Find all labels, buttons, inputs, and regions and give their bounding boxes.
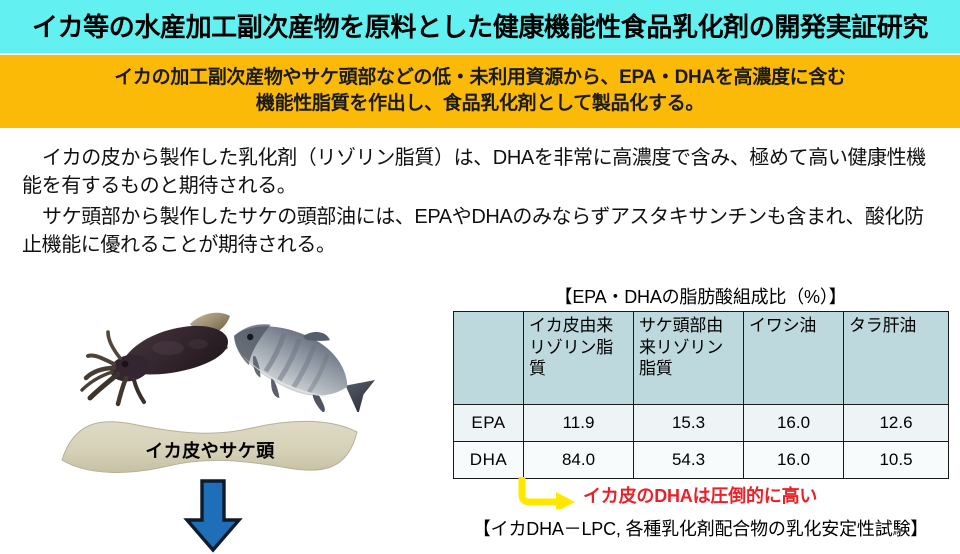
column-header-cod-liver-oil: タラ肝油 [844,311,949,404]
cell-dha-sardine: 16.0 [744,441,844,478]
salmon-photo [215,312,380,412]
annotation-note: イカ皮のDHAは圧倒的に高い [583,482,817,508]
cell-epa-cod: 12.6 [844,404,949,441]
slide-canvas: イカ等の水産加工副次産物を原料とした健康機能性食品乳化剤の開発実証研究 イカの加… [0,0,960,554]
table-row: EPA 11.9 15.3 16.0 12.6 [454,404,949,441]
material-banner [60,416,360,478]
title-band: イカ等の水産加工副次産物を原料とした健康機能性食品乳化剤の開発実証研究 [0,0,960,53]
fatty-acid-composition-table: イカ皮由来リゾリン脂質 サケ頭部由来リゾリン脂質 イワシ油 タラ肝油 EPA 1… [453,311,949,479]
figure-group: イカ皮やサケ頭 [60,296,440,554]
elbow-arrow-icon [515,477,579,509]
fatty-acid-table-block: 【EPA・DHAの脂肪酸組成比（%）】 イカ皮由来リゾリン脂質 サケ頭部由来リゾ… [453,288,948,479]
cell-dha-ika: 84.0 [524,441,634,478]
footer-caption: 【イカDHA－LPC, 各種乳化剤配合物の乳化安定性試験】 [453,519,948,540]
body-paragraph-1: イカの皮から製作した乳化剤（リゾリン脂質）は、DHAを非常に高濃度で含み、極めて… [22,144,938,201]
highlight-annotation: イカ皮のDHAは圧倒的に高い [453,477,948,511]
cell-epa-salmon: 15.3 [634,404,744,441]
table-row: DHA 84.0 54.3 16.0 10.5 [454,441,949,478]
column-header-salmon-lysophospholipid: サケ頭部由来リゾリン脂質 [634,311,744,404]
row-header-epa: EPA [454,404,524,441]
cell-epa-sardine: 16.0 [744,404,844,441]
cell-dha-salmon: 54.3 [634,441,744,478]
table-header-row: イカ皮由来リゾリン脂質 サケ頭部由来リゾリン脂質 イワシ油 タラ肝油 [454,311,949,404]
body-paragraph-2: サケ頭部から製作したサケの頭部油には、EPAやDHAのみならずアスタキサンチンも… [22,203,938,260]
down-arrow-icon [182,478,244,554]
table-corner-cell [454,311,524,404]
row-header-dha: DHA [454,441,524,478]
table-caption: 【EPA・DHAの脂肪酸組成比（%）】 [453,288,948,308]
subtitle-line-2: 機能性脂質を作出し、食品乳化剤として製品化する。 [256,94,704,115]
column-header-ika-lysophospholipid: イカ皮由来リゾリン脂質 [524,311,634,404]
cell-dha-cod: 10.5 [844,441,949,478]
page-title: イカ等の水産加工副次産物を原料とした健康機能性食品乳化剤の開発実証研究 [32,14,928,40]
cell-epa-ika: 11.9 [524,404,634,441]
column-header-sardine-oil: イワシ油 [744,311,844,404]
subtitle-band: イカの加工副次産物やサケ頭部などの低・未利用資源から、EPA・DHAを高濃度に含… [0,55,960,128]
subtitle-line-1: イカの加工副次産物やサケ頭部などの低・未利用資源から、EPA・DHAを高濃度に含… [114,68,846,89]
body-text-block: イカの皮から製作した乳化剤（リゾリン脂質）は、DHAを非常に高濃度で含み、極めて… [22,144,938,262]
